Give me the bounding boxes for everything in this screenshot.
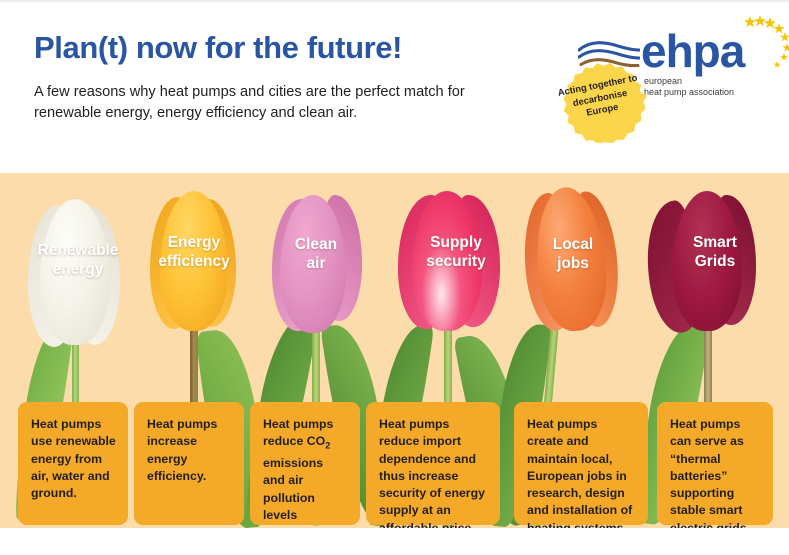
factbox-subscript: 2 <box>325 441 330 451</box>
ehpa-tagline-line1: european <box>644 76 734 87</box>
tulip-label: Local jobs <box>515 235 631 273</box>
factbox-text: Heat pumps use renewable energy from air… <box>31 417 116 500</box>
tulip-label: Clean air <box>260 235 372 273</box>
factbox-local-jobs: Heat pumps create and maintain local, Eu… <box>514 402 648 525</box>
header-section: Plan(t) now for the future! A few reason… <box>0 2 789 173</box>
decarbonise-badge: Acting together to decarbonise Europe <box>558 56 642 140</box>
ehpa-tagline: european heat pump association <box>644 76 734 98</box>
factbox-renewable-energy: Heat pumps use renewable energy from air… <box>18 402 128 525</box>
factbox-energy-efficiency: Heat pumps increase energy efficiency. <box>134 402 244 525</box>
factbox-text: Heat pumps reduce import dependence and … <box>379 417 485 528</box>
page-title: Plan(t) now for the future! <box>34 30 402 66</box>
factbox-text-before: Heat pumps reduce CO <box>263 417 333 448</box>
factbox-clean-air: Heat pumps reduce CO2 emissions and air … <box>250 402 360 525</box>
eu-stars-icon <box>726 14 789 76</box>
page-subtitle: A few reasons why heat pumps and cities … <box>34 82 504 124</box>
factbox-text: Heat pumps create and maintain local, Eu… <box>527 417 632 528</box>
tulip-label: Supply security <box>390 233 522 271</box>
infographic-page: Plan(t) now for the future! A few reason… <box>0 0 789 555</box>
factbox-text: Heat pumps can serve as “thermal batteri… <box>670 417 750 528</box>
factbox-supply-security: Heat pumps reduce import dependence and … <box>366 402 500 525</box>
tulip-panel: Renewable energy Energy efficiency Clean… <box>0 173 789 528</box>
tulip-label: Smart Grids <box>654 233 776 271</box>
tulip-label: Energy efficiency <box>132 233 256 271</box>
factbox-text-after: emissions and air pollution levels <box>263 456 323 522</box>
ehpa-tagline-line2: heat pump association <box>644 87 734 98</box>
factbox-smart-grids: Heat pumps can serve as “thermal batteri… <box>657 402 773 525</box>
factbox-text: Heat pumps increase energy efficiency. <box>147 417 217 483</box>
tulip-label: Renewable energy <box>10 241 146 279</box>
badge-label: Acting together to decarbonise Europe <box>551 49 649 147</box>
